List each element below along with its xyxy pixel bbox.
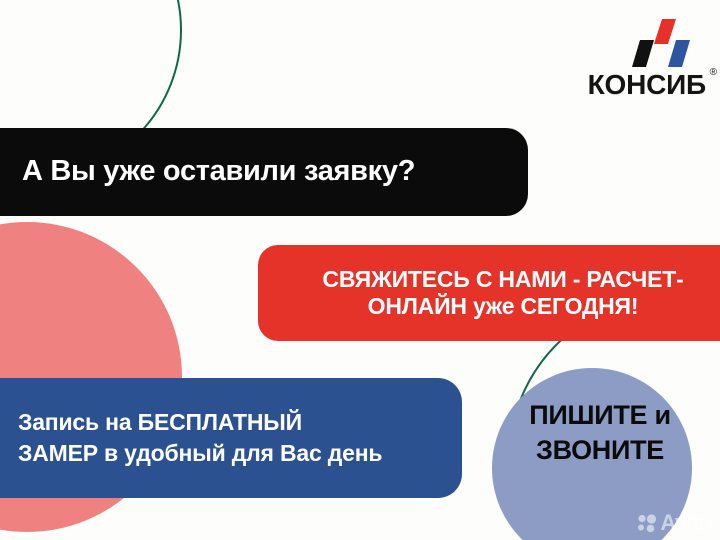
contact-offer-block: СВЯЖИТЕСЬ С НАМИ - РАСЧЕТ- ОНЛАЙН уже СЕ… [258, 245, 720, 341]
registered-trademark-icon: ® [710, 67, 717, 78]
free-measurement-text: Запись на БЕСПЛАТНЫЙ ЗАМЕР в удобный для… [18, 407, 382, 469]
headline-block: А Вы уже оставили заявку? [0, 128, 528, 216]
free-measurement-line-2: ЗАМЕР в удобный для Вас день [18, 438, 382, 469]
free-measurement-line-1: Запись на БЕСПЛАТНЫЙ [18, 407, 382, 438]
headline-text: А Вы уже оставили заявку? [22, 155, 415, 188]
logo-wordmark-wrap: КОНСИБ ® [588, 71, 706, 99]
contact-offer-line-1: СВЯЖИТЕСЬ С НАМИ - РАСЧЕТ- [284, 266, 720, 293]
contact-offer-text: СВЯЖИТЕСЬ С НАМИ - РАСЧЕТ- ОНЛАЙН уже СЕ… [284, 266, 720, 320]
promo-banner: КОНСИБ ® А Вы уже оставили заявку? СВЯЖИ… [0, 0, 720, 540]
write-and-call-line-2: ЗВОНИТЕ [492, 433, 708, 468]
logo-wordmark: КОНСИБ [588, 69, 706, 100]
avito-watermark-label: Avito [660, 512, 712, 534]
free-measurement-block: Запись на БЕСПЛАТНЫЙ ЗАМЕР в удобный для… [0, 378, 462, 498]
brand-logo: КОНСИБ ® [566, 18, 706, 106]
avito-dots-icon [637, 513, 657, 533]
logo-parallelograms-icon [628, 18, 698, 70]
contact-offer-line-2: ОНЛАЙН уже СЕГОДНЯ! [284, 293, 720, 320]
avito-watermark: Avito [637, 512, 712, 534]
write-and-call-line-1: ПИШИТЕ и [492, 398, 708, 433]
write-and-call-cta: ПИШИТЕ и ЗВОНИТЕ [492, 398, 708, 467]
